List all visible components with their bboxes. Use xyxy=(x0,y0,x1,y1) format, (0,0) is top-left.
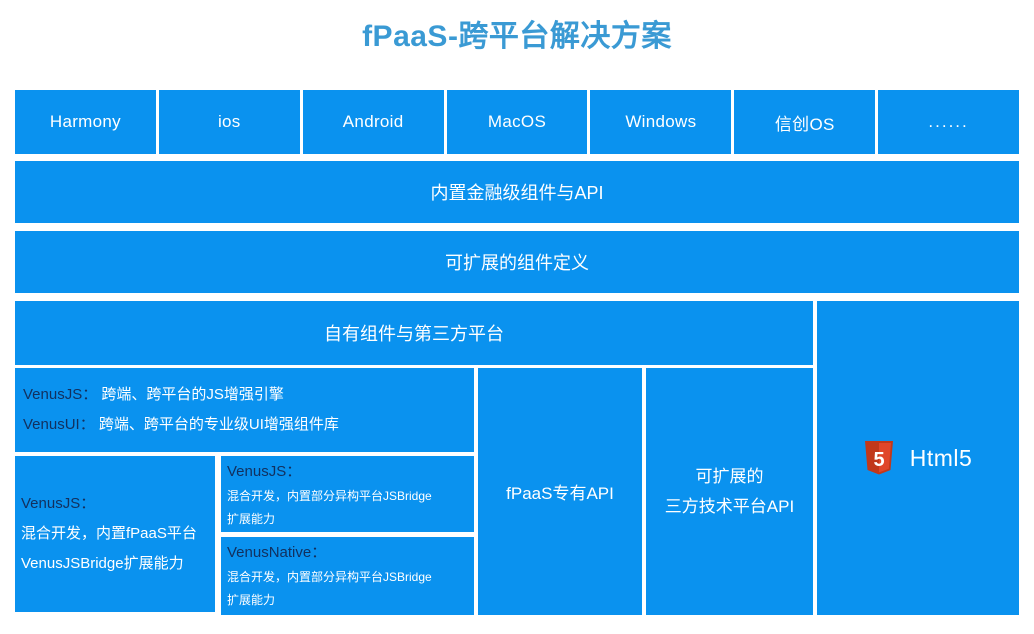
platform-row: Harmony ios Android MacOS Windows 信创OS .… xyxy=(15,90,1019,154)
venus-description-box[interactable]: VenusJS： 跨端、跨平台的JS增强引擎 VenusUI： 跨端、跨平台的专… xyxy=(15,368,474,452)
venusnative-small-body-line2: 扩展能力 xyxy=(227,589,275,612)
platform-tile-macos[interactable]: MacOS xyxy=(447,90,588,154)
platform-tile-xinchuang-os[interactable]: 信创OS xyxy=(734,90,875,154)
venusjs-heterogeneous-box[interactable]: VenusJS： 混合开发，内置部分异构平台JSBridge 扩展能力 xyxy=(221,456,474,532)
platform-tile-android[interactable]: Android xyxy=(303,90,444,154)
venusnative-small-body-line1: 混合开发，内置部分异构平台JSBridge xyxy=(227,566,432,589)
thirdparty-api-line2: 三方技术平台API xyxy=(665,492,794,522)
venusnative-heterogeneous-box[interactable]: VenusNative： 混合开发，内置部分异构平台JSBridge 扩展能力 xyxy=(221,537,474,615)
platform-tile-ios[interactable]: ios xyxy=(159,90,300,154)
venusjs-hybrid-body-line2: VenusJSBridge扩展能力 xyxy=(21,549,184,579)
venusjs-small-body-line1: 混合开发，内置部分异构平台JSBridge xyxy=(227,485,432,508)
html5-box[interactable]: 5 Html5 xyxy=(817,301,1019,615)
venusui-label: VenusUI： xyxy=(23,416,95,433)
layer-self-and-thirdparty-platform[interactable]: 自有组件与第三方平台 xyxy=(15,301,813,365)
platform-tile-harmony[interactable]: Harmony xyxy=(15,90,156,154)
fpaas-proprietary-api-box[interactable]: fPaaS专有API xyxy=(478,368,642,615)
venusjs-hybrid-heading: VenusJS： xyxy=(21,489,95,519)
page-title: fPaaS-跨平台解决方案 xyxy=(0,16,1034,58)
layer-extensible-component-definition[interactable]: 可扩展的组件定义 xyxy=(15,231,1019,293)
layer-builtin-components-api[interactable]: 内置金融级组件与API xyxy=(15,161,1019,223)
venus-desc-line-ui: VenusUI： 跨端、跨平台的专业级UI增强组件库 xyxy=(23,410,339,440)
diagram-canvas: fPaaS-跨平台解决方案 Harmony ios Android MacOS … xyxy=(0,0,1034,634)
thirdparty-platform-api-box[interactable]: 可扩展的 三方技术平台API xyxy=(646,368,813,615)
html5-label: Html5 xyxy=(910,445,973,472)
venusjs-small-heading: VenusJS： xyxy=(227,458,301,485)
venusui-description: 跨端、跨平台的专业级UI增强组件库 xyxy=(99,416,339,433)
html5-shield-icon: 5 xyxy=(864,441,894,475)
venus-desc-line-js: VenusJS： 跨端、跨平台的JS增强引擎 xyxy=(23,380,284,410)
venusjs-small-body-line2: 扩展能力 xyxy=(227,508,275,531)
platform-tile-windows[interactable]: Windows xyxy=(590,90,731,154)
thirdparty-api-line1: 可扩展的 xyxy=(696,462,764,492)
venusjs-hybrid-box[interactable]: VenusJS： 混合开发，内置fPaaS平台 VenusJSBridge扩展能… xyxy=(15,456,215,612)
svg-text:5: 5 xyxy=(873,449,884,471)
platform-tile-more[interactable]: ...... xyxy=(878,90,1019,154)
venusjs-hybrid-body-line1: 混合开发，内置fPaaS平台 xyxy=(21,519,197,549)
venusjs-label: VenusJS： xyxy=(23,386,97,403)
venusnative-small-heading: VenusNative： xyxy=(227,539,326,566)
venusjs-description: 跨端、跨平台的JS增强引擎 xyxy=(101,386,284,403)
